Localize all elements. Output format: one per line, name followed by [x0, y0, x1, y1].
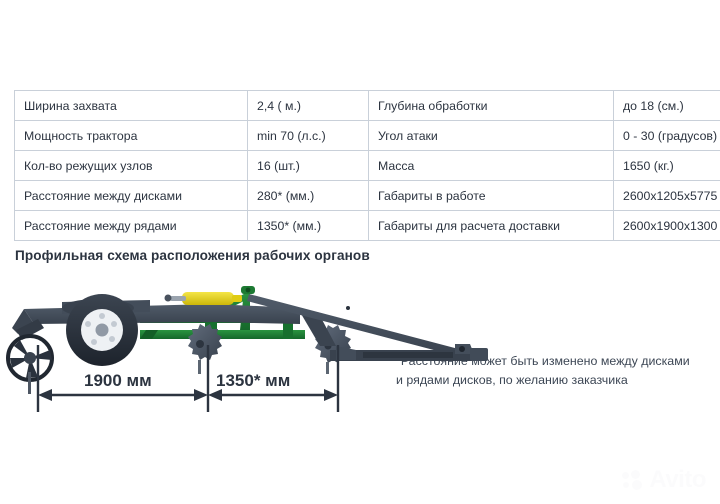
spec-value: 2,4 ( м.)	[248, 91, 369, 121]
page-root: Ширина захвата 2,4 ( м.) Глубина обработ…	[0, 0, 720, 504]
spec-value: 0 - 30 (градусов)	[614, 121, 720, 151]
spec-label: Габариты для расчета доставки	[369, 211, 614, 241]
hydraulic-cylinder	[165, 292, 243, 305]
spec-label: Мощность трактора	[15, 121, 248, 151]
spec-value: 280* (мм.)	[248, 181, 369, 211]
spec-label: Габариты в работе	[369, 181, 614, 211]
spec-value: 16 (шт.)	[248, 151, 369, 181]
table-row: Мощность трактора min 70 (л.с.) Угол ата…	[15, 121, 720, 151]
spec-label: Кол-во режущих узлов	[15, 151, 248, 181]
spec-label: Расстояние между дисками	[15, 181, 248, 211]
dimension-lines	[0, 340, 370, 420]
spec-value: 1650 (кг.)	[614, 151, 720, 181]
avito-wordmark: Avito	[649, 468, 706, 492]
spec-value: 1350* (мм.)	[248, 211, 369, 241]
spec-value: до 18 (см.)	[614, 91, 720, 121]
table-body: Ширина захвата 2,4 ( м.) Глубина обработ…	[15, 91, 720, 241]
dimension-label-1350: 1350* мм	[216, 371, 290, 391]
spec-value: 2600х1900х1300 (мм.)	[614, 211, 720, 241]
spec-label: Угол атаки	[369, 121, 614, 151]
table-row: Ширина захвата 2,4 ( м.) Глубина обработ…	[15, 91, 720, 121]
spec-label: Масса	[369, 151, 614, 181]
specifications-table: Ширина захвата 2,4 ( м.) Глубина обработ…	[14, 90, 720, 241]
table-row: Кол-во режущих узлов 16 (шт.) Масса 1650…	[15, 151, 720, 181]
table-row: Расстояние между дисками 280* (мм.) Габа…	[15, 181, 720, 211]
avito-dots-icon	[622, 470, 644, 490]
section-heading: Профильная схема расположения рабочих ор…	[15, 248, 370, 263]
spec-label: Глубина обработки	[369, 91, 614, 121]
spec-label: Расстояние между рядами	[15, 211, 248, 241]
spec-value: min 70 (л.с.)	[248, 121, 369, 151]
spec-value: 2600х1205х5775 (мм.)	[614, 181, 720, 211]
spec-label: Ширина захвата	[15, 91, 248, 121]
table-row: Расстояние между рядами 1350* (мм.) Габа…	[15, 211, 720, 241]
avito-watermark: Avito	[622, 468, 706, 492]
dimension-label-1900: 1900 мм	[84, 371, 152, 391]
